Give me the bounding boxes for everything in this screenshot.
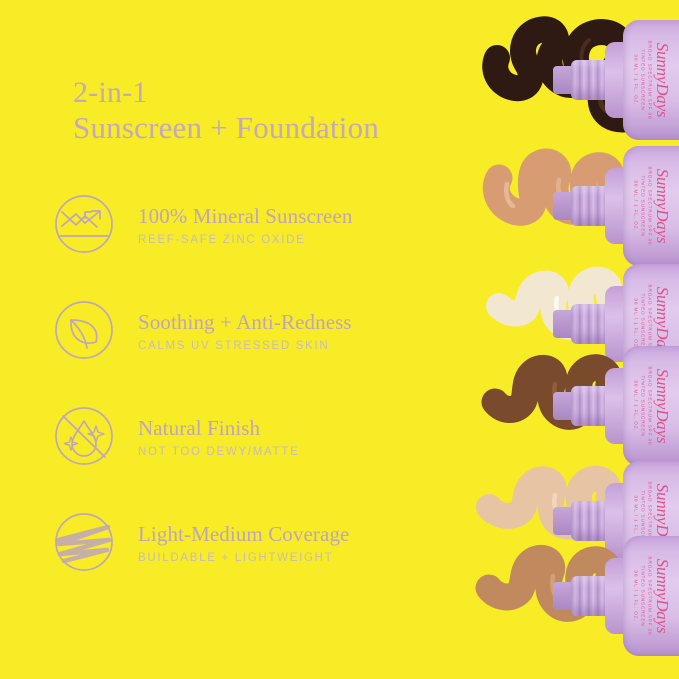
product-unit-tan-peach: SunnyDays BROAD SPECTRUM SPF 30 TINTED S… xyxy=(449,140,679,272)
bottle-fineprint-line-2: TINTED SUNSCREEN xyxy=(640,375,645,436)
feature-text-block: 100% Mineral Sunscreen REEF-SAFE ZINC OX… xyxy=(138,202,352,246)
bottle-label: SunnyDays BROAD SPECTRUM SPF 30 TINTED S… xyxy=(623,536,679,656)
bottle-fineprint-line-3: 30 ML / 1 FL. OZ. xyxy=(634,54,639,105)
feature-title: Soothing + Anti-Redness xyxy=(138,310,352,334)
bottle-fineprint-line-3: 30 ML / 1 FL. OZ. xyxy=(634,570,639,621)
product-unit-chocolate: SunnyDays BROAD SPECTRUM SPF 30 TINTED S… xyxy=(449,340,679,472)
bottle-fineprint-line-2: TINTED SUNSCREEN xyxy=(640,175,645,236)
bottle-fineprint-line-1: BROAD SPECTRUM SPF 30 xyxy=(647,167,652,246)
bottle-fineprint-line-3: 30 ML / 1 FL. OZ. xyxy=(634,380,639,431)
product-bottle: SunnyDays BROAD SPECTRUM SPF 30 TINTED S… xyxy=(605,20,679,140)
feature-item-coverage: Light-Medium Coverage BUILDABLE + LIGHTW… xyxy=(50,506,470,578)
no-dewy-droplet-icon xyxy=(50,402,118,470)
product-bottle: SunnyDays BROAD SPECTRUM SPF 30 TINTED S… xyxy=(605,536,679,656)
feature-text-block: Natural Finish NOT TOO DEWY/MATTE xyxy=(138,414,299,458)
product-unit-espresso: SunnyDays BROAD SPECTRUM SPF 30 TINTED S… xyxy=(449,14,679,146)
feature-text-block: Soothing + Anti-Redness CALMS UV STRESSE… xyxy=(138,308,352,352)
bottle-fineprint: BROAD SPECTRUM SPF 30 TINTED SUNSCREEN 3… xyxy=(632,557,653,636)
page-title: 2-in-1 Sunscreen + Foundation xyxy=(73,75,379,147)
brand-name: SunnyDays xyxy=(652,559,672,634)
bottle-fineprint-line-2: TINTED SUNSCREEN xyxy=(640,565,645,626)
brand-name: SunnyDays xyxy=(652,169,672,244)
product-bottle: SunnyDays BROAD SPECTRUM SPF 30 TINTED S… xyxy=(605,346,679,466)
bottle-label: SunnyDays BROAD SPECTRUM SPF 30 TINTED S… xyxy=(623,146,679,266)
product-unit-caramel-tan: SunnyDays BROAD SPECTRUM SPF 30 TINTED S… xyxy=(449,530,679,662)
bottle-fineprint-line-1: BROAD SPECTRUM SPF 30 xyxy=(647,557,652,636)
bottle-fineprint: BROAD SPECTRUM SPF 30 TINTED SUNSCREEN 3… xyxy=(632,367,653,446)
feature-subtitle: REEF-SAFE ZINC OXIDE xyxy=(138,234,352,246)
bottle-fineprint: BROAD SPECTRUM SPF 30 TINTED SUNSCREEN 3… xyxy=(632,167,653,246)
feature-title: Light-Medium Coverage xyxy=(138,522,349,546)
product-poster: 2-in-1 Sunscreen + Foundation 100% Miner… xyxy=(0,0,679,679)
bottle-fineprint-line-1: BROAD SPECTRUM SPF 30 xyxy=(647,41,652,120)
feature-subtitle: BUILDABLE + LIGHTWEIGHT xyxy=(138,552,349,564)
brand-name: SunnyDays xyxy=(652,369,672,444)
bottle-label: SunnyDays BROAD SPECTRUM SPF 30 TINTED S… xyxy=(623,20,679,140)
bottle-fineprint: BROAD SPECTRUM SPF 30 TINTED SUNSCREEN 3… xyxy=(632,41,653,120)
headline-line-2: Sunscreen + Foundation xyxy=(73,110,379,147)
feature-item-soothing: Soothing + Anti-Redness CALMS UV STRESSE… xyxy=(50,294,470,366)
bottle-fineprint-line-1: BROAD SPECTRUM SPF 30 xyxy=(647,367,652,446)
leaf-icon xyxy=(50,296,118,364)
feature-title: Natural Finish xyxy=(138,416,299,440)
feature-text-block: Light-Medium Coverage BUILDABLE + LIGHTW… xyxy=(138,520,349,564)
feature-item-natural-finish: Natural Finish NOT TOO DEWY/MATTE xyxy=(50,400,470,472)
feature-list: 100% Mineral Sunscreen REEF-SAFE ZINC OX… xyxy=(50,188,470,612)
headline-line-1: 2-in-1 xyxy=(73,75,379,110)
feature-item-mineral-sunscreen: 100% Mineral Sunscreen REEF-SAFE ZINC OX… xyxy=(50,188,470,260)
feature-subtitle: NOT TOO DEWY/MATTE xyxy=(138,446,299,458)
brand-name: SunnyDays xyxy=(652,43,672,118)
bottle-fineprint-line-2: TINTED SUNSCREEN xyxy=(640,49,645,110)
uv-deflect-icon xyxy=(50,190,118,258)
product-shade-column: SunnyDays BROAD SPECTRUM SPF 30 TINTED S… xyxy=(449,0,679,679)
feature-title: 100% Mineral Sunscreen xyxy=(138,204,352,228)
bottle-fineprint-line-3: 30 ML / 1 FL. OZ. xyxy=(634,180,639,231)
coverage-scribble-icon xyxy=(50,508,118,576)
feature-subtitle: CALMS UV STRESSED SKIN xyxy=(138,340,352,352)
product-bottle: SunnyDays BROAD SPECTRUM SPF 30 TINTED S… xyxy=(605,146,679,266)
bottle-label: SunnyDays BROAD SPECTRUM SPF 30 TINTED S… xyxy=(623,346,679,466)
